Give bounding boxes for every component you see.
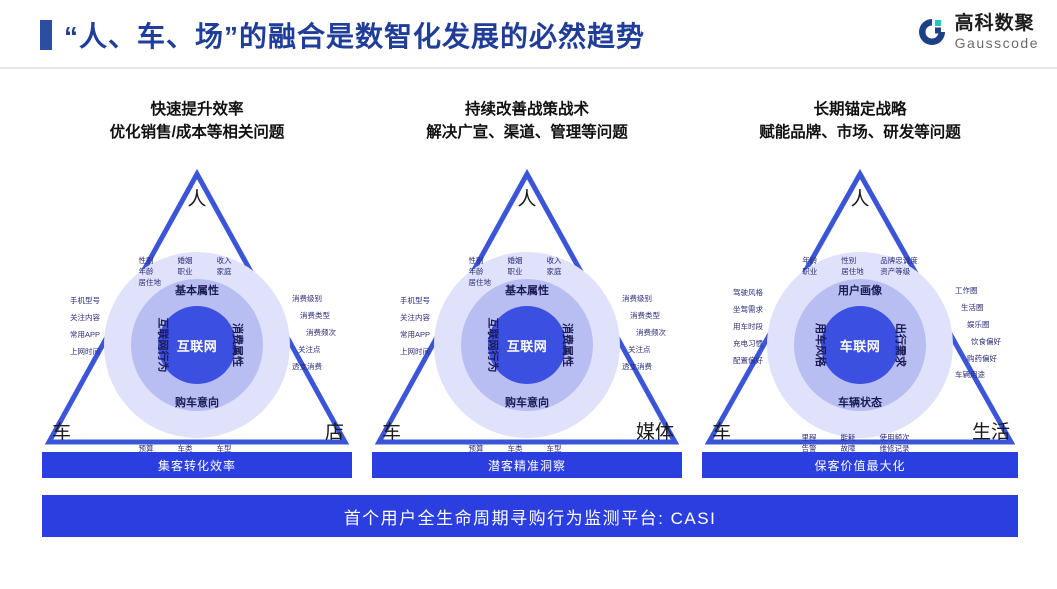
- outcome-bars: 集客转化效率 潜客精准洞察 保客价值最大化: [0, 452, 1057, 480]
- outer-label: 充电习惯: [723, 339, 763, 350]
- outer-label: 消费类型: [622, 311, 666, 322]
- outer-label: 车辆用途: [955, 370, 1001, 381]
- triangle-2-core-label: 车联网: [821, 306, 899, 384]
- triangle-1-outer-right: 消费级别 消费类型 消费频次 关注点 透支消费: [622, 294, 666, 378]
- triangle-block-0: 人 车 店 互联网 基本属性 购车意向 互联网行为 消费属性 性别婚姻收入 年龄…: [42, 160, 352, 450]
- page-header: “人、车、场”的融合是数智化发展的必然趋势 高科数聚 Gausscode: [0, 0, 1057, 68]
- triangle-0-mid-bottom: 购车意向: [175, 394, 219, 410]
- outcome-bar-1[interactable]: 潜客精准洞察: [372, 452, 682, 478]
- column-headings: 快速提升效率 优化销售/成本等相关问题 持续改善战策战术 解决广宣、渠道、管理等…: [0, 98, 1057, 154]
- column-heading-2-line2: 赋能品牌、市场、研发等问题: [702, 121, 1018, 144]
- triangle-0-mid-left: 互联网行为: [156, 318, 172, 373]
- outer-label: 资产等级: [880, 267, 910, 278]
- outer-label: 常用APP: [60, 330, 100, 341]
- triangle-1-vertex-bottom-right: 媒体: [636, 417, 674, 444]
- column-heading-0: 快速提升效率 优化销售/成本等相关问题: [42, 98, 352, 145]
- page-title: “人、车、场”的融合是数智化发展的必然趋势: [64, 15, 645, 55]
- gausscode-logo-icon: [916, 16, 948, 48]
- outer-label: 透支消费: [622, 362, 666, 373]
- outer-label: 收入: [547, 256, 577, 267]
- outer-label: 上网时间: [60, 347, 100, 358]
- triangle-2-outer-left: 驾驶风格 坐驾需求 用车时段 充电习惯 配置偏好: [723, 288, 763, 372]
- outer-label: 家庭: [217, 267, 247, 278]
- column-heading-1: 持续改善战策战术 解决广宣、渠道、管理等问题: [372, 98, 682, 145]
- outer-label: 消费级别: [622, 294, 666, 305]
- outer-label: 职业: [508, 267, 538, 278]
- outer-label: 婚姻: [508, 256, 538, 267]
- logo-text-cn: 高科数聚: [955, 14, 1039, 33]
- triangle-1-vertex-top: 人: [517, 184, 536, 211]
- outer-label: 生活圈: [955, 303, 1001, 314]
- outer-label: 工作圈: [955, 286, 1001, 297]
- outer-label: 手机型号: [390, 296, 430, 307]
- triangle-2-vertex-top: 人: [850, 184, 869, 211]
- column-heading-1-line1: 持续改善战策战术: [465, 101, 589, 118]
- outer-label: 职业: [802, 267, 832, 278]
- outer-label: 消费频次: [622, 328, 666, 339]
- outer-label: 居住地: [841, 267, 871, 278]
- outer-label: 透支消费: [292, 362, 336, 373]
- outer-label: 饮食偏好: [955, 337, 1001, 348]
- outer-label: 关注内容: [390, 313, 430, 324]
- triangle-1-outer-left: 手机型号 关注内容 常用APP 上网时间: [390, 296, 430, 364]
- outer-label: 配置偏好: [723, 356, 763, 367]
- outer-label: 里程: [802, 433, 832, 444]
- column-heading-0-line2: 优化销售/成本等相关问题: [42, 121, 352, 144]
- outer-label: 坐驾需求: [723, 305, 763, 316]
- triangle-1-outer-top: 性别婚姻收入 年龄职业家庭 居住地: [469, 256, 586, 289]
- outer-label: 关注点: [622, 345, 666, 356]
- triangle-0-rings: 互联网 基本属性 购车意向 互联网行为 消费属性 性别婚姻收入 年龄职业家庭 居…: [104, 252, 290, 438]
- triangle-1-vertex-bottom-left: 车: [382, 417, 401, 444]
- outer-label: 手机型号: [60, 296, 100, 307]
- outer-label: 使用频次: [880, 433, 910, 444]
- outcome-bar-0[interactable]: 集客转化效率: [42, 452, 352, 478]
- triangle-block-1: 人 车 媒体 互联网 基本属性 购车意向 互联网行为 消费属性 性别婚姻收入 年…: [372, 160, 682, 450]
- column-heading-2-line1: 长期锚定战略: [813, 101, 906, 118]
- triangle-0-vertex-bottom-right: 店: [325, 417, 344, 444]
- outer-label: 上网时间: [390, 347, 430, 358]
- triangle-2-outer-right: 工作圈 生活圈 娱乐圈 饮食偏好 购药偏好 车辆用途: [955, 286, 1001, 387]
- triangle-0-outer-top: 性别婚姻收入 年龄职业家庭 居住地: [139, 256, 256, 289]
- triangle-2-mid-bottom: 车辆状态: [838, 394, 882, 410]
- triangle-2-vertex-bottom-left: 车: [712, 417, 731, 444]
- outer-label: 性别: [469, 256, 499, 267]
- outer-label: 驾驶风格: [723, 288, 763, 299]
- outer-label: 性别: [841, 256, 871, 267]
- outer-label: 年龄: [469, 267, 499, 278]
- outer-label: 购药偏好: [955, 354, 1001, 365]
- outcome-bar-2[interactable]: 保客价值最大化: [702, 452, 1018, 478]
- outer-label: 关注内容: [60, 313, 100, 324]
- brand-logo: 高科数聚 Gausscode: [916, 14, 1039, 50]
- triangle-0-outer-right: 消费级别 消费类型 消费频次 关注点 透支消费: [292, 294, 336, 378]
- title-accent-bar: [40, 20, 52, 50]
- outer-label: 消费级别: [292, 294, 336, 305]
- column-heading-0-line1: 快速提升效率: [150, 101, 243, 118]
- header-divider: [0, 67, 1057, 69]
- outer-label: 年龄: [802, 256, 832, 267]
- outer-label: 婚姻: [178, 256, 208, 267]
- triangle-2-outer-top: 年龄性别品牌忠诚度 职业居住地资产等级: [802, 256, 918, 278]
- column-heading-1-line2: 解决广宣、渠道、管理等问题: [372, 121, 682, 144]
- outer-label: 年龄: [139, 267, 169, 278]
- triangle-2-mid-right: 出行需求: [893, 323, 909, 367]
- outer-label: 常用APP: [390, 330, 430, 341]
- outer-label: 用车时段: [723, 322, 763, 333]
- outer-label: 能耗: [841, 433, 871, 444]
- outer-label: 品牌忠诚度: [880, 256, 918, 267]
- outer-label: 性别: [139, 256, 169, 267]
- outer-label: 家庭: [547, 267, 577, 278]
- logo-text-en: Gausscode: [955, 36, 1039, 50]
- triangle-0-vertex-top: 人: [187, 184, 206, 211]
- column-heading-2: 长期锚定战略 赋能品牌、市场、研发等问题: [702, 98, 1018, 145]
- outer-label: 消费类型: [292, 311, 336, 322]
- triangle-2-mid-left: 用车风格: [813, 323, 829, 367]
- outer-label: 娱乐圈: [955, 320, 1001, 331]
- triangle-1-mid-right: 消费属性: [560, 323, 576, 367]
- platform-banner[interactable]: 首个用户全生命周期寻购行为监测平台: CASI: [42, 495, 1018, 537]
- triangle-1-mid-bottom: 购车意向: [505, 394, 549, 410]
- outer-label: 居住地: [139, 278, 169, 289]
- outer-label: 居住地: [469, 278, 499, 289]
- triangle-0-outer-left: 手机型号 关注内容 常用APP 上网时间: [60, 296, 100, 364]
- outer-label: 消费频次: [292, 328, 336, 339]
- outer-label: 关注点: [292, 345, 336, 356]
- triangle-1-rings: 互联网 基本属性 购车意向 互联网行为 消费属性 性别婚姻收入 年龄职业家庭 居…: [434, 252, 620, 438]
- triangle-0-vertex-bottom-left: 车: [52, 417, 71, 444]
- outer-label: 收入: [217, 256, 247, 267]
- triangles-row: 人 车 店 互联网 基本属性 购车意向 互联网行为 消费属性 性别婚姻收入 年龄…: [0, 160, 1057, 450]
- outer-label: 职业: [178, 267, 208, 278]
- triangle-2-vertex-bottom-right: 生活: [972, 417, 1010, 444]
- triangle-1-mid-left: 互联网行为: [486, 318, 502, 373]
- triangle-block-2: 人 车 生活 车联网 用户画像 车辆状态 用车风格 出行需求 年龄性别品牌忠诚度…: [702, 160, 1018, 450]
- triangle-2-rings: 车联网 用户画像 车辆状态 用车风格 出行需求 年龄性别品牌忠诚度 职业居住地资…: [767, 252, 953, 438]
- triangle-0-mid-right: 消费属性: [230, 323, 246, 367]
- triangle-2-mid-top: 用户画像: [838, 282, 882, 298]
